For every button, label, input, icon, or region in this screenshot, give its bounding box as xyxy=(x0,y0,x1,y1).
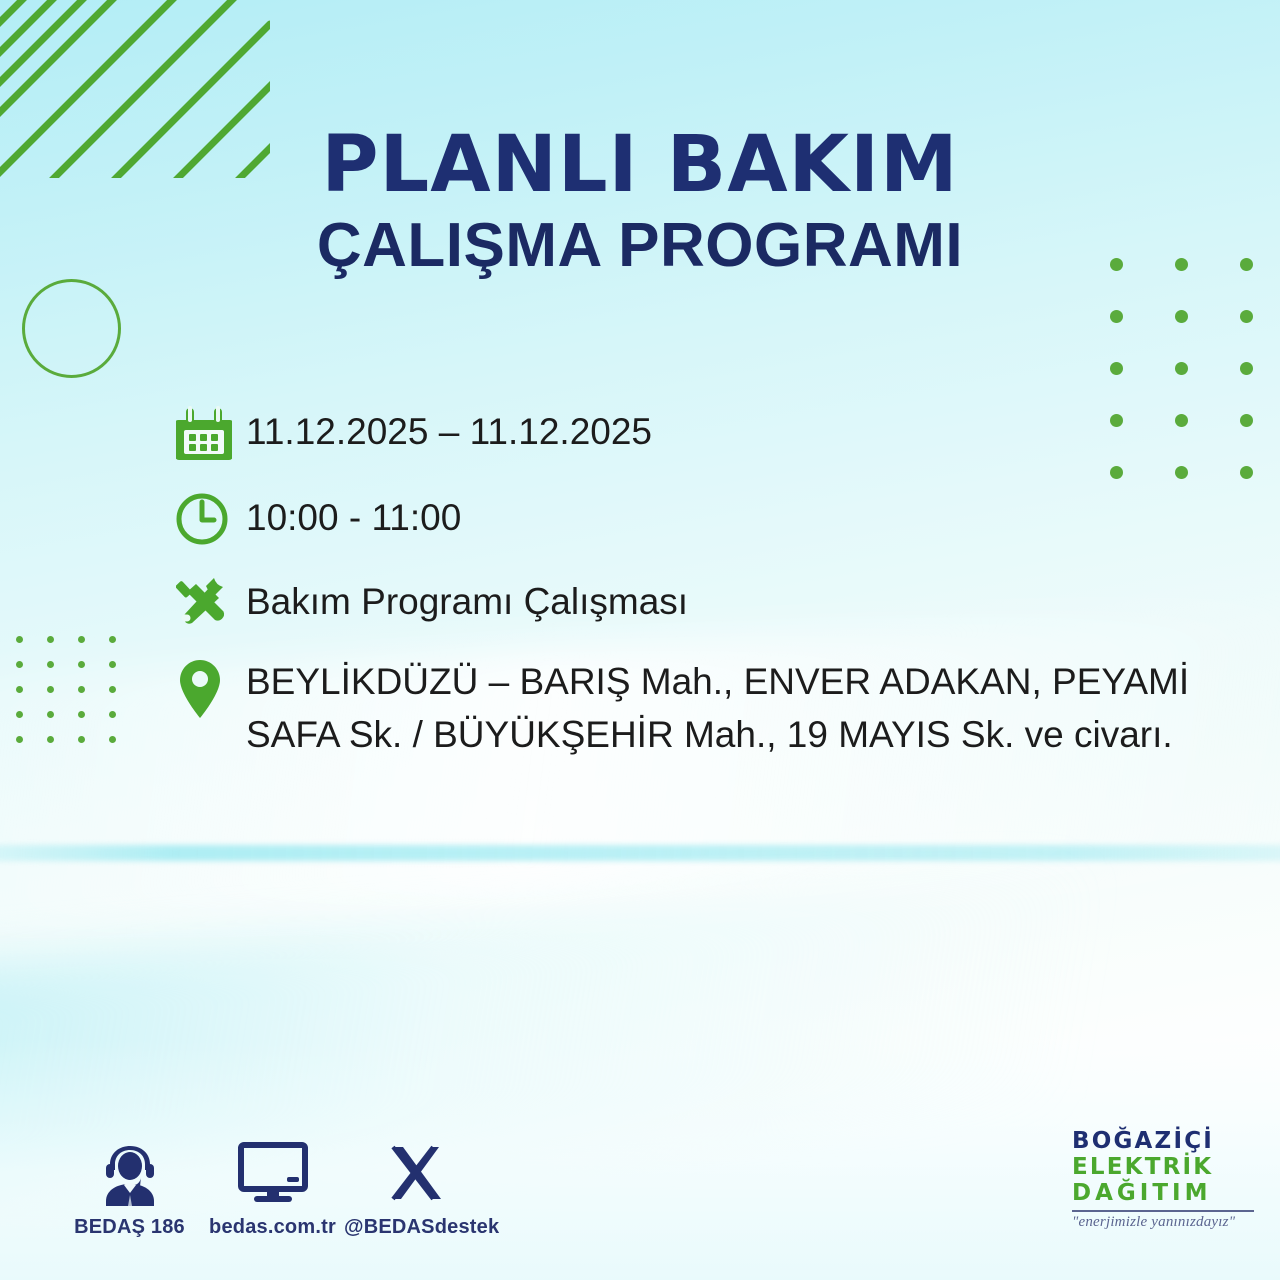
info-row-time: 10:00 - 11:00 xyxy=(176,488,1256,548)
headset-support-icon xyxy=(58,1136,201,1210)
brand-line-dagitim: DAĞITIM xyxy=(1072,1180,1262,1206)
background-horizon-line xyxy=(0,845,1280,861)
address-text: BEYLİKDÜZÜ – BARIŞ Mah., ENVER ADAKAN, P… xyxy=(246,652,1246,761)
footer-item-x-account[interactable]: @BEDASdestek xyxy=(344,1136,487,1239)
brand-tagline: "enerjimizle yanınızdayız" xyxy=(1072,1214,1262,1231)
brand-line-bogazici: BOĞAZİÇİ xyxy=(1072,1128,1262,1154)
work-type-text: Bakım Programı Çalışması xyxy=(246,572,688,629)
footer-contact-strip: BEDAŞ 186 bedas.com.tr xyxy=(58,1136,487,1239)
footer-label-call-center: BEDAŞ 186 xyxy=(58,1216,201,1239)
monitor-website-icon xyxy=(201,1136,344,1210)
page-header: PLANLI BAKIM ÇALIŞMA PROGRAMI xyxy=(0,128,1280,277)
page-subtitle: ÇALIŞMA PROGRAMI xyxy=(0,215,1280,277)
footer-label-website: bedas.com.tr xyxy=(201,1216,344,1239)
clock-icon xyxy=(176,488,246,548)
info-row-work-type: Bakım Programı Çalışması xyxy=(176,572,1256,630)
info-row-date: 11.12.2025 – 11.12.2025 xyxy=(176,402,1256,462)
time-range-text: 10:00 - 11:00 xyxy=(246,488,461,545)
circle-outline-decoration xyxy=(22,279,121,378)
date-range-text: 11.12.2025 – 11.12.2025 xyxy=(246,402,652,459)
footer-label-x-account: @BEDASdestek xyxy=(344,1216,487,1239)
brand-line-elektrik: ELEKTRİK xyxy=(1072,1154,1262,1180)
poster-canvas: PLANLI BAKIM ÇALIŞMA PROGRAMI xyxy=(0,0,1280,1280)
info-list: 11.12.2025 – 11.12.2025 10:00 - 11:00 xyxy=(176,402,1256,785)
calendar-icon xyxy=(176,402,246,462)
dot-grid-left-decoration xyxy=(16,636,140,761)
footer-item-website[interactable]: bedas.com.tr xyxy=(201,1136,344,1239)
tools-icon xyxy=(176,572,246,630)
info-row-address: BEYLİKDÜZÜ – BARIŞ Mah., ENVER ADAKAN, P… xyxy=(176,652,1256,761)
page-title: PLANLI BAKIM xyxy=(0,128,1280,203)
location-pin-icon xyxy=(176,652,246,722)
footer-item-call-center[interactable]: BEDAŞ 186 xyxy=(58,1136,201,1239)
brand-divider xyxy=(1072,1210,1254,1212)
x-twitter-icon xyxy=(344,1136,487,1210)
brand-logo: BOĞAZİÇİ ELEKTRİK DAĞITIM "enerjimizle y… xyxy=(1072,1128,1262,1231)
